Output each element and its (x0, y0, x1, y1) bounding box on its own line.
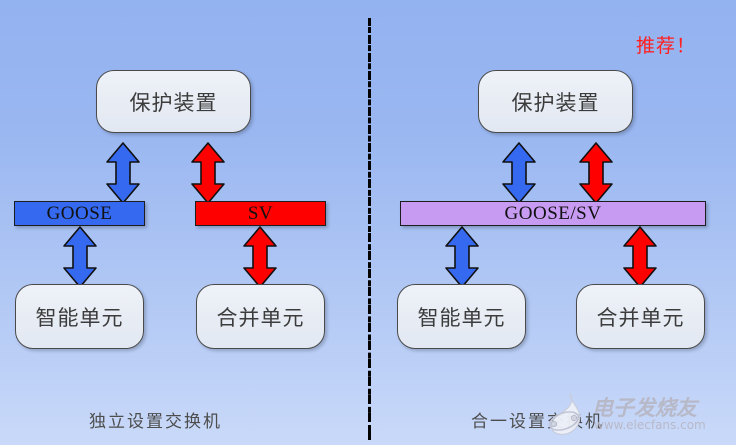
arrow-combined-to-smart-unit (444, 226, 480, 288)
diagram-canvas: 推荐！ 保护装置 GOOSE SV 智能单元 合并单元 独立设置交换机 保护装置… (0, 0, 736, 445)
arrow-sv-to-merging-unit (242, 226, 278, 288)
left-merging-unit-node: 合并单元 (196, 284, 325, 349)
left-panel-caption: 独立设置交换机 (89, 407, 222, 432)
arrow-combined-to-merging-unit (622, 226, 658, 288)
left-protection-device-node: 保护装置 (96, 70, 251, 133)
arrow-protection-to-combined-sv (578, 142, 614, 204)
recommended-badge: 推荐！ (636, 31, 696, 58)
right-protection-device-node: 保护装置 (478, 70, 633, 133)
watermark-brand: 电子发烧友 (592, 392, 697, 422)
panel-divider-dots (368, 18, 371, 440)
right-smart-unit-node: 智能单元 (397, 284, 526, 349)
right-merging-unit-node: 合并单元 (576, 284, 705, 349)
arrow-protection-to-goose (105, 142, 141, 204)
arrow-goose-to-smart-unit (62, 226, 98, 288)
sv-bus-bar: SV (195, 201, 326, 226)
goose-bus-bar: GOOSE (14, 201, 145, 226)
arrow-protection-to-sv (190, 142, 226, 204)
right-panel-caption: 合一设置交换机 (471, 407, 604, 432)
goose-sv-bus-bar: GOOSE/SV (400, 201, 706, 226)
arrow-protection-to-combined-goose (501, 142, 537, 204)
left-smart-unit-node: 智能单元 (15, 284, 144, 349)
watermark-url: www.elecfans.com (594, 418, 706, 432)
